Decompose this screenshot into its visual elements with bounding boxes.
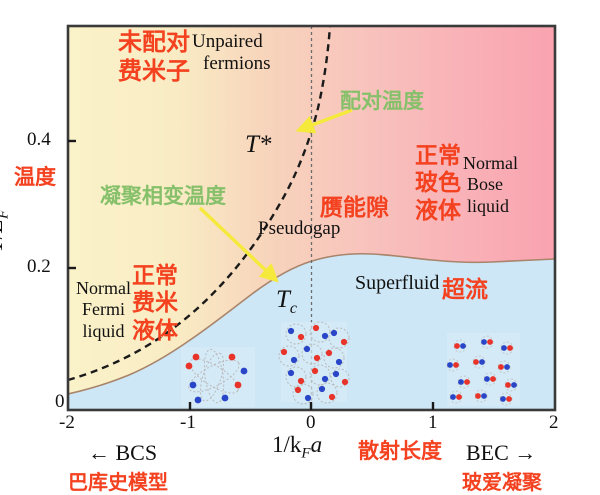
pairing-temp-callout-label: 配对温度 [340, 85, 424, 115]
normal-bose-en-line2: Bose [467, 175, 518, 193]
y-axis-label-math: T/EF [10, 205, 62, 285]
region-label-normal-fermi-liquid: Normal Fermi liquid 正常 费米 液体 [76, 265, 178, 343]
x-tick--2: -2 [59, 412, 75, 434]
region-label-superfluid-cn: 超流 [442, 270, 488, 304]
y-tick-0: 0 [55, 391, 65, 413]
x-axis-label-cn: 散射长度 [358, 435, 442, 465]
normal-fermi-en-line1: Normal [76, 279, 131, 297]
bec-arrow-label: BEC → [466, 440, 536, 466]
region-label-unpaired-fermions: 未配对 费米子 Unpaired fermions [118, 30, 271, 84]
phase-diagram-figure: 0.4 0.2 0 -2 -1 0 1 2 温度 T/EF 1/kFa 散射长度… [0, 0, 600, 490]
normal-bose-cn-line1: 正常 [415, 145, 461, 168]
normal-bose-en-line3: liquid [467, 197, 518, 215]
normal-bose-en-line1: Normal [463, 154, 518, 172]
tc-symbol-T: T [276, 286, 290, 313]
unpaired-en-line2: fermions [203, 54, 271, 73]
atom-cluster-unitarity [279, 322, 349, 404]
x-tick--1: -1 [180, 412, 196, 434]
normal-bose-cn-line3: 液体 [415, 200, 461, 223]
y-tick-0.4: 0.4 [27, 129, 51, 151]
bcs-arrow-label: ← BCS [88, 440, 157, 466]
y-axis-label-cn: 温度 [14, 161, 56, 191]
normal-fermi-cn-line1: 正常 [132, 265, 178, 288]
normal-fermi-cn-line2: 费米 [132, 292, 178, 315]
normal-bose-cn-line2: 玻色 [415, 172, 461, 195]
y-label-T: T [0, 239, 7, 252]
unpaired-cn-line2: 费米子 [118, 59, 190, 83]
plot-canvas [0, 0, 600, 490]
x-axis-label-math: 1/kFa [272, 432, 322, 463]
normal-fermi-en-line2: Fermi [76, 300, 131, 318]
normal-fermi-en-line3: liquid [76, 322, 131, 340]
region-label-pseudogap-cn: 赝能隙 [320, 188, 389, 222]
unpaired-en-line1: Unpaired [192, 32, 271, 51]
tc-symbol-c: c [290, 300, 297, 317]
atom-cluster-bec [447, 333, 520, 406]
tstar-symbol-label: T* [245, 131, 271, 159]
region-label-normal-bose-liquid: 正常 玻色 液体 Normal Bose liquid [415, 145, 518, 223]
x-label-pre: 1/k [272, 432, 301, 457]
x-tick-2: 2 [549, 412, 559, 434]
x-tick-0: 0 [306, 412, 316, 434]
bec-label-cn: 玻爱凝聚 [462, 466, 542, 495]
region-label-superfluid-en: Superfluid [355, 272, 439, 295]
y-label-E: E [0, 219, 7, 233]
condensation-temp-callout-label: 凝聚相变温度 [100, 180, 226, 210]
unpaired-cn-line1: 未配对 [118, 30, 190, 54]
x-label-post: a [311, 432, 323, 457]
x-label-F-sub: F [301, 446, 310, 462]
tc-symbol-label: Tc [276, 286, 297, 318]
x-tick-1: 1 [428, 412, 438, 434]
y-label-F-sub: F [0, 210, 12, 219]
bcs-label-cn: 巴库史模型 [68, 466, 168, 495]
normal-fermi-cn-line3: 液体 [132, 320, 178, 343]
atom-cluster-bcs [181, 347, 255, 407]
tstar-symbol-text: T* [245, 131, 271, 158]
